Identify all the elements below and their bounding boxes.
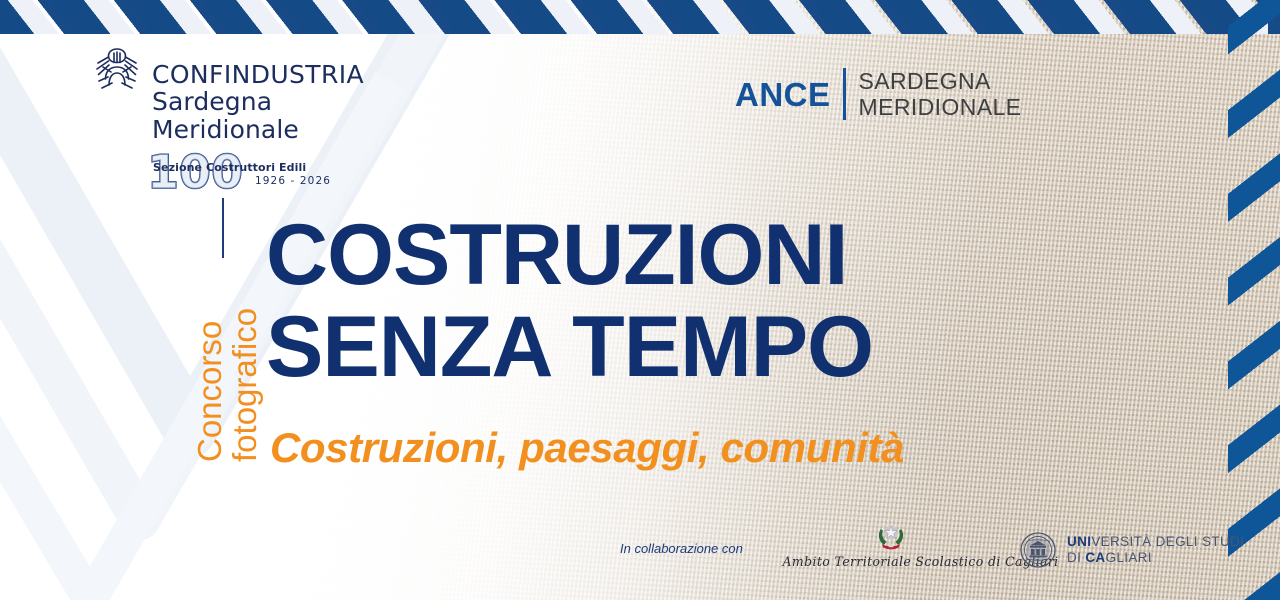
partner-universita-name: UNIVERSITÀ DEGLI STUDI DI CAGLIARI — [1067, 534, 1244, 566]
universita-line-1: UNIVERSITÀ DEGLI STUDI — [1067, 534, 1244, 550]
confindustria-region: Sardegna Meridionale — [152, 88, 392, 144]
poster-canvas: CONFINDUSTRIA Sardegna Meridionale 100 1… — [0, 0, 1280, 600]
ance-region-line2: MERIDIONALE — [859, 94, 1022, 120]
page-title: COSTRUZIONI SENZA TEMPO — [266, 213, 873, 390]
centenary-mark: 100 100 Sezione Costruttori Edili 1926 -… — [147, 148, 347, 192]
ance-region-line1: SARDEGNA — [859, 68, 1022, 94]
ance-wordmark: ANCE — [735, 78, 831, 111]
ance-region: SARDEGNA MERIDIONALE — [859, 68, 1022, 120]
universita-rest-1: VERSITÀ DEGLI STUDI — [1091, 534, 1244, 549]
italian-republic-emblem-icon — [874, 520, 908, 554]
universita-line-2: DI CAGLIARI — [1067, 550, 1244, 566]
right-diagonal-stripes — [1228, 0, 1280, 600]
confindustria-eagle-icon — [92, 46, 142, 98]
partner-ambito-territoriale: Ambito Territoriale Scolastico di Caglia… — [778, 520, 1003, 570]
confindustria-name: CONFINDUSTRIA — [152, 62, 392, 88]
partner-universita-cagliari: UNIVERSITÀ DEGLI STUDI DI CAGLIARI — [1020, 532, 1244, 568]
confindustria-logo: CONFINDUSTRIA Sardegna Meridionale 100 1… — [92, 46, 392, 192]
centenary-label: Sezione Costruttori Edili — [153, 161, 306, 174]
partner-ambito-name: Ambito Territoriale Scolastico di Caglia… — [783, 555, 999, 570]
collaboration-label: In collaborazione con — [620, 541, 743, 556]
ance-logo: ANCE SARDEGNA MERIDIONALE — [735, 68, 1021, 120]
title-line-2: SENZA TEMPO — [266, 305, 873, 389]
eyebrow-line1: Concorso — [192, 308, 227, 462]
ance-divider — [843, 68, 846, 120]
title-line-1: COSTRUZIONI — [266, 207, 847, 303]
universita-strong-ca: CA — [1085, 550, 1105, 565]
top-diagonal-stripes-navy — [0, 0, 1280, 34]
eyebrow-line2: fotografico — [227, 308, 262, 462]
title-vertical-rule — [222, 198, 224, 258]
page-subtitle: Costruzioni, paesaggi, comunità — [270, 424, 904, 472]
university-of-cagliari-seal-icon — [1020, 532, 1056, 568]
universita-rest-2: GLIARI — [1106, 550, 1152, 565]
universita-strong-uni: UNI — [1067, 534, 1091, 549]
universita-pre-2: DI — [1067, 550, 1085, 565]
centenary-years: 1926 - 2026 — [255, 175, 331, 187]
